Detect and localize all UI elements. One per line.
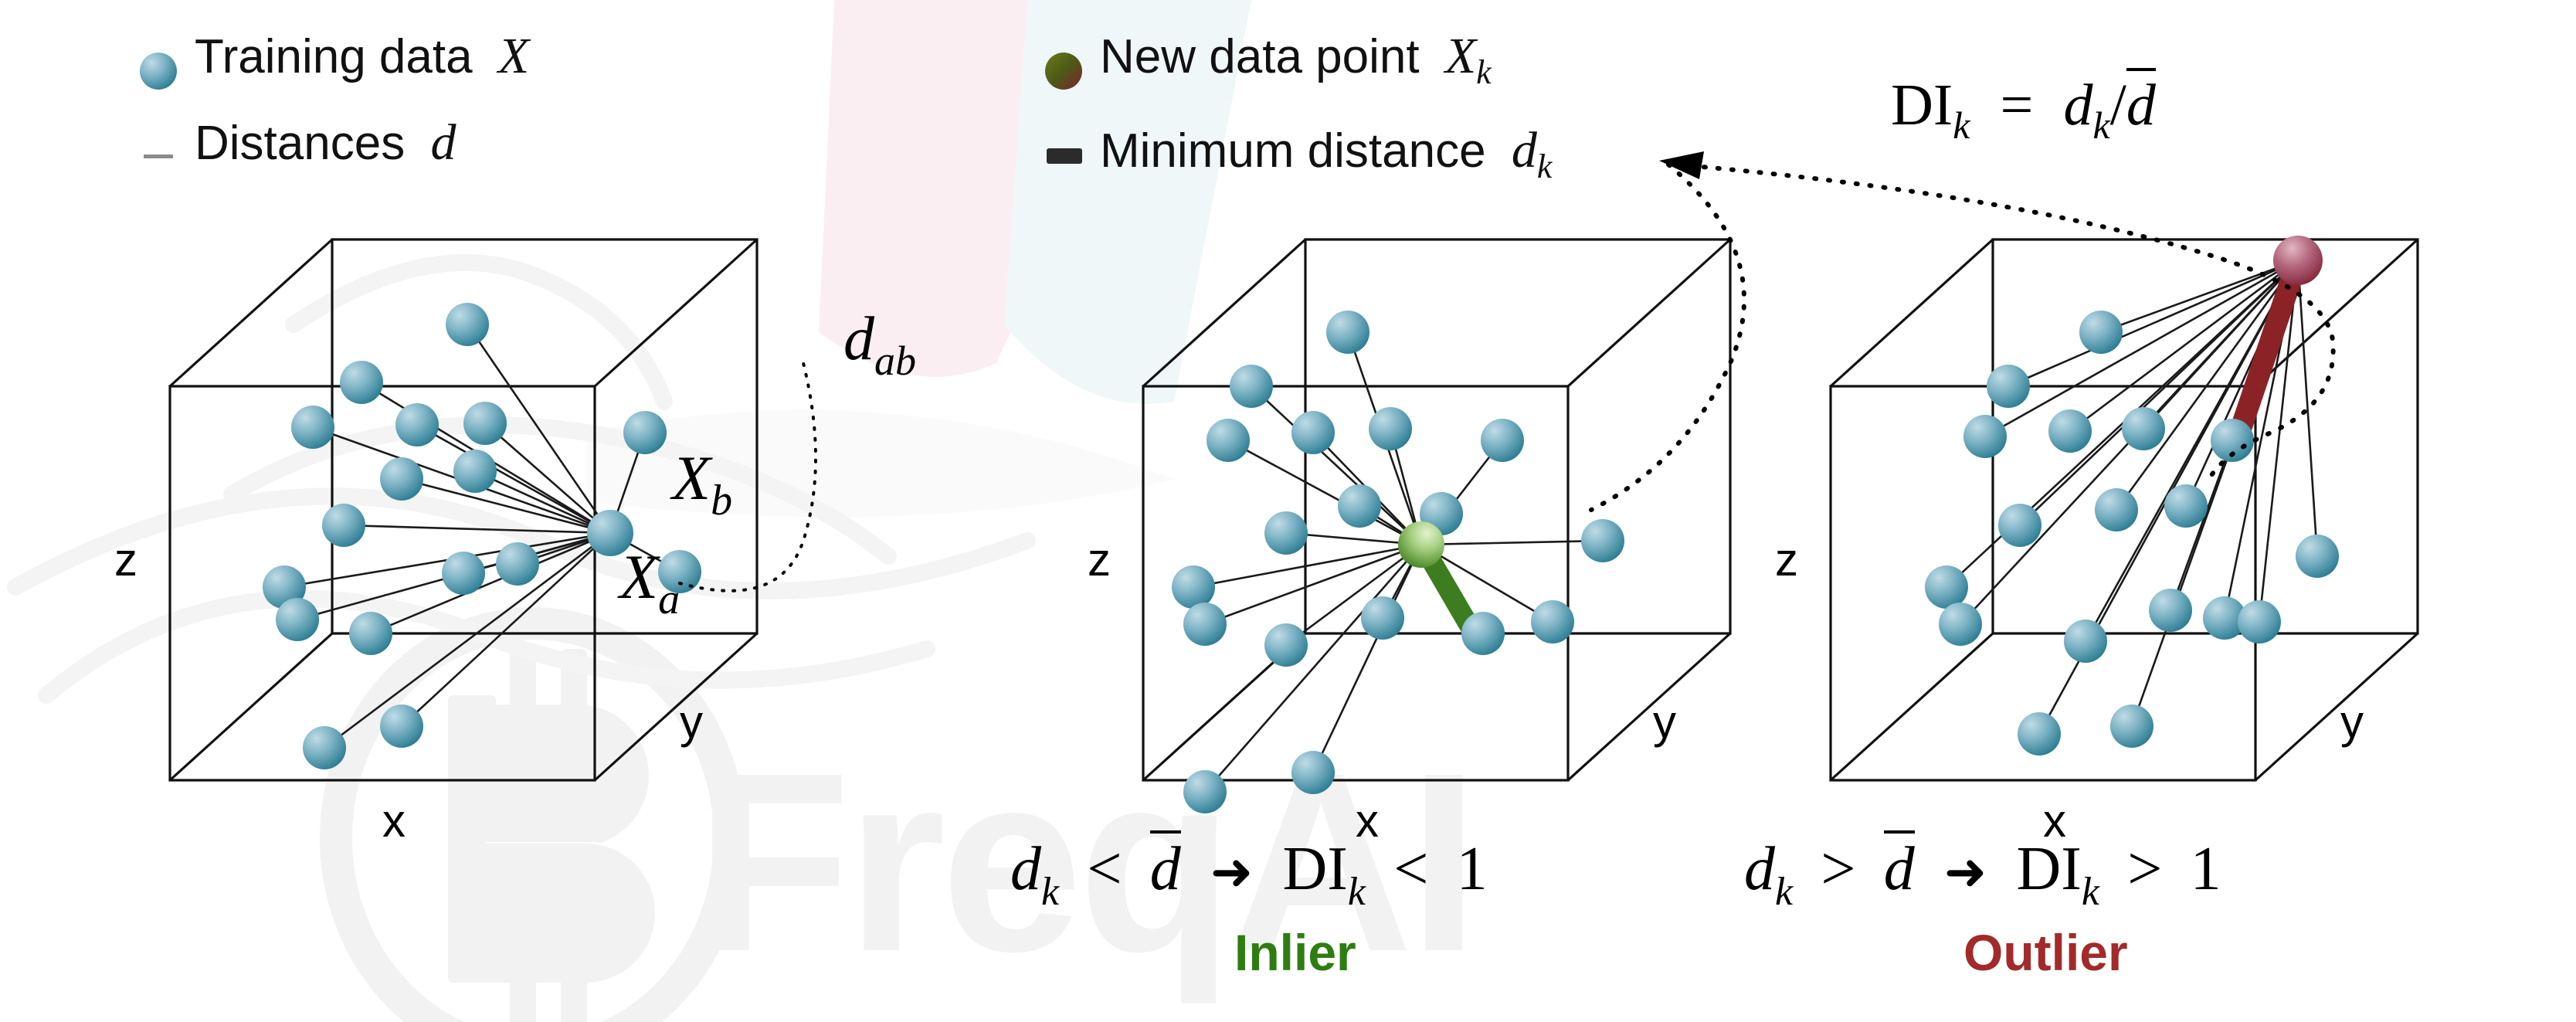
training-point (1264, 623, 1308, 667)
verdict-inlier: Inlier (1234, 923, 1356, 982)
legend-item-mindistance: Minimum distance dk (1100, 125, 1552, 184)
formula-di-numerator-sub: k (2093, 104, 2110, 147)
legend-item-mindistance-subscript: k (1537, 148, 1553, 185)
verdict-outlier-text: Outlier (1963, 924, 2128, 981)
legend-item-newpoint: New data point Xk (1100, 31, 1552, 90)
training-point (2149, 589, 2192, 632)
formula-di-denominator: d (2126, 68, 2156, 138)
training-point (2079, 311, 2123, 354)
panel3-axis-y: y (2340, 696, 2364, 748)
training-point (291, 406, 334, 449)
training-point (1338, 484, 1381, 528)
training-point (395, 403, 439, 446)
training-point (463, 402, 507, 445)
caption-inlier-value: 1 (1457, 835, 1488, 903)
panel2-axis-z: z (1088, 534, 1111, 586)
legend-item-newpoint-subscript: k (1476, 53, 1492, 91)
label-xa: Xa (619, 541, 680, 624)
caption-inlier-dk-sub: k (1041, 870, 1059, 914)
formula-di-lhs-sub: k (1953, 104, 1970, 147)
training-point (2164, 484, 2208, 528)
legend-left-block: Training data X Distances d (195, 31, 529, 168)
verdict-inlier-text: Inlier (1234, 924, 1356, 981)
caption-outlier-dk-sub: k (1775, 870, 1793, 914)
training-point (1230, 365, 1273, 408)
legend-marker-training-sphere (140, 53, 177, 90)
training-point (380, 457, 423, 501)
label-xb-subscript: b (711, 477, 732, 525)
label-xb: Xb (672, 442, 732, 525)
legend-marker-mindistance-dash (1047, 148, 1082, 164)
training-point-nearest (1461, 612, 1505, 655)
legend-left (140, 53, 177, 158)
label-xb-symbol: X (672, 443, 711, 513)
training-point (303, 726, 346, 769)
label-xa-subscript: a (658, 576, 680, 623)
formula-di-definition: DIk = dk/d (1891, 71, 2156, 148)
legend-item-newpoint-label: New data point (1100, 30, 1420, 83)
callout-dab: dab (843, 303, 916, 385)
training-point (1291, 411, 1335, 454)
training-point (1531, 600, 1574, 643)
caption-outlier-value: 1 (2191, 835, 2221, 903)
legend-item-training: Training data X (195, 31, 529, 82)
legend-right-block: New data point Xk Minimum distance dk (1100, 31, 1552, 184)
verdict-outlier: Outlier (1963, 923, 2128, 982)
training-point (1183, 770, 1227, 813)
legend-item-training-label: Training data (195, 30, 473, 83)
training-point (446, 303, 489, 346)
training-point (442, 552, 485, 595)
training-point (496, 542, 539, 586)
callout-dab-symbol: d (843, 305, 874, 373)
training-point (2110, 705, 2153, 748)
formula-di-equals: = (2001, 73, 2034, 138)
caption-outlier-dbar: d (1884, 830, 1915, 903)
new-data-point-red (2273, 236, 2323, 285)
panel3-axis-z: z (1775, 534, 1798, 586)
caption-inlier: dk < d ➜ DIk < 1 (1010, 833, 1488, 915)
training-point (1291, 751, 1335, 794)
training-point (2018, 712, 2061, 755)
callout-leader-dk (1591, 165, 1744, 510)
legend-item-distances-symbol: d (430, 114, 456, 171)
training-point (2122, 407, 2165, 450)
legend-right (1045, 53, 1082, 164)
caption-outlier-di-sub: k (2082, 870, 2099, 914)
caption-outlier-di: DI (2016, 835, 2081, 903)
new-data-point-green (1398, 521, 1444, 568)
training-point (623, 411, 667, 454)
legend-marker-distance-dash (144, 154, 173, 158)
caption-inlier-op2: < (1393, 835, 1428, 903)
training-point (349, 612, 392, 655)
caption-outlier-dk: d (1744, 835, 1775, 903)
caption-outlier-op2: > (2127, 835, 2162, 903)
training-point (2238, 600, 2281, 643)
training-point (340, 361, 383, 404)
training-point (1369, 407, 1412, 450)
training-point (1172, 565, 1215, 609)
training-point (2095, 488, 2138, 531)
training-point (1939, 603, 1982, 646)
training-point (276, 598, 319, 641)
caption-outlier-arrow: ➜ (1944, 842, 1987, 901)
legend-item-mindistance-symbol: d (1512, 122, 1537, 178)
caption-inlier-dk: d (1010, 835, 1041, 903)
training-point (1581, 519, 1624, 562)
formula-di-slash: / (2110, 73, 2126, 138)
training-point (322, 504, 365, 547)
panel1-axis-z: z (114, 534, 137, 586)
caption-inlier-arrow: ➜ (1210, 842, 1253, 901)
formula-di-numerator: d (2064, 73, 2093, 138)
panel1-axis-x: x (382, 795, 406, 847)
diagram-root: FreqAI (0, 0, 2576, 1022)
training-point (1207, 419, 1250, 462)
training-point (453, 450, 497, 493)
training-point (1361, 596, 1404, 640)
caption-inlier-di-sub: k (1348, 870, 1366, 914)
training-point (380, 705, 423, 748)
training-point (1998, 504, 2041, 547)
caption-outlier: dk > d ➜ DIk > 1 (1744, 833, 2221, 915)
panel2-axis-y: y (1653, 696, 1676, 748)
training-point (1326, 311, 1369, 354)
caption-outlier-op1: > (1821, 835, 1855, 903)
formula-di-lhs: DI (1891, 73, 1953, 138)
training-point (1987, 365, 2030, 408)
caption-inlier-dbar: d (1150, 830, 1181, 903)
legend-item-distances: Distances d (195, 117, 529, 168)
training-point (1925, 565, 1968, 609)
caption-inlier-di: DI (1282, 835, 1347, 903)
legend-item-distances-label: Distances (195, 117, 405, 170)
legend-item-mindistance-label: Minimum distance (1100, 124, 1486, 178)
training-point (1481, 419, 1524, 462)
panel-training-points (263, 303, 701, 769)
training-point (1264, 511, 1308, 555)
training-point (1183, 603, 1227, 646)
training-point (2064, 620, 2107, 663)
label-xa-symbol: X (619, 542, 658, 612)
legend-marker-newpoint-sphere (1045, 53, 1082, 90)
legend-item-training-symbol: X (498, 28, 529, 84)
training-point (2296, 535, 2339, 578)
training-point (1963, 415, 2007, 458)
legend-item-newpoint-symbol: X (1445, 28, 1476, 84)
training-point (2048, 409, 2092, 453)
caption-inlier-op1: < (1087, 835, 1122, 903)
callout-dab-subscript: ab (874, 338, 916, 384)
panel1-axis-y: y (680, 696, 703, 748)
